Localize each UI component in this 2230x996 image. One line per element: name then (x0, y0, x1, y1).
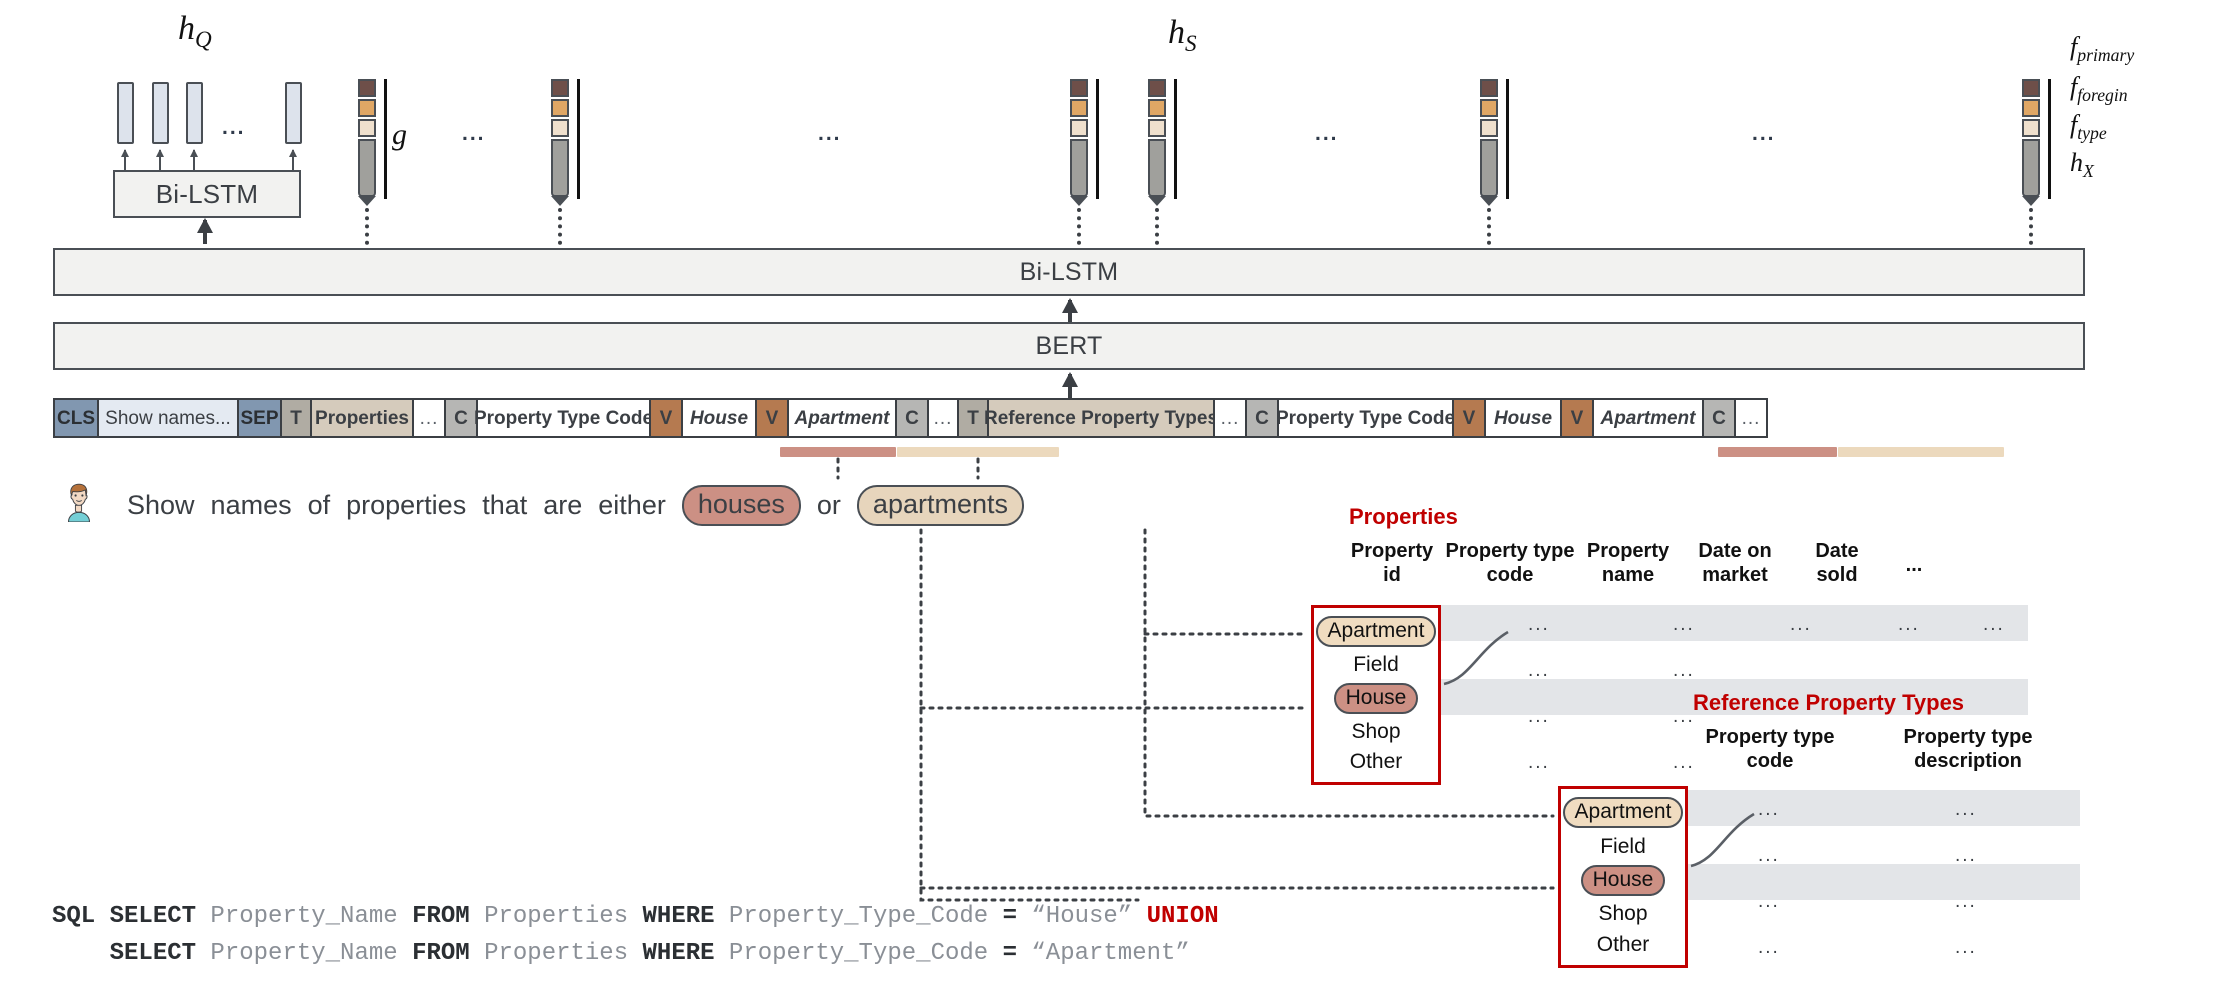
stack-tip (1070, 196, 1088, 206)
th-property-type-code: Property typecode (1444, 540, 1576, 587)
header-line: Property type (1444, 540, 1576, 564)
g-label: g (392, 118, 407, 152)
f-type-label: ftype (2070, 110, 2107, 144)
bert-input-arrow (1068, 374, 1072, 398)
stack-3-dotted-line (1077, 208, 1081, 253)
reference-cell: ... (1955, 799, 1977, 821)
bert-token-8: V (649, 398, 683, 438)
th-date-on-market: Date onmarket (1680, 540, 1790, 587)
column-feature-stack-2 (551, 79, 569, 197)
question-word-3: properties (346, 490, 466, 521)
bert-token-9: House (681, 398, 757, 438)
question-arrow-4 (292, 150, 294, 172)
reference-cell: ... (1955, 891, 1977, 913)
bert-token-5: ... (412, 398, 446, 438)
column-feature-stack-6 (2022, 79, 2040, 197)
f-foregin-cell (1148, 99, 1166, 117)
f-primary-label: fprimary (2070, 32, 2134, 66)
figure-canvas: hQ ... Bi-LSTM g ... ... hS (0, 0, 2230, 996)
f-primary-cell (551, 79, 569, 97)
sql-token: Properties (470, 940, 643, 967)
stack-2-dotted-line (558, 208, 562, 253)
sql-token: Property_Type_Code (715, 903, 1003, 930)
value-item-other[interactable]: Other (1350, 749, 1403, 774)
bert-token-10: V (755, 398, 789, 438)
f-primary-cell (1070, 79, 1088, 97)
apartment-highlight-bar-1 (897, 447, 1059, 457)
reference-cell: ... (1955, 845, 1977, 867)
f-type-cell (551, 119, 569, 137)
house-highlight-bar-2 (1718, 447, 1837, 457)
bert-token-7: Property Type Code (476, 398, 651, 438)
question-vector-3 (186, 82, 203, 144)
brace-2 (577, 79, 580, 199)
properties-cell: ... (1898, 614, 1920, 636)
stacks-ellipsis-1: ... (462, 122, 486, 146)
bert-token-3: T (280, 398, 312, 438)
sql-output: SQL SELECT Property_Name FROM Properties… (52, 898, 1219, 972)
value-item-apartment[interactable]: Apartment (1563, 797, 1684, 828)
reference-cell: ... (1758, 937, 1780, 959)
question-arrow-2 (159, 150, 161, 172)
sql-token: “House” (1017, 903, 1147, 930)
header-line: market (1680, 564, 1790, 588)
bert-token-11: Apartment (787, 398, 897, 438)
reference-cell: ... (1758, 799, 1780, 821)
value-item-shop[interactable]: Shop (1351, 719, 1400, 744)
question-word-1: names (211, 490, 292, 521)
stack-4-dotted-line (1155, 208, 1159, 253)
stack-6-dotted-line (2029, 208, 2033, 253)
bert-token-12: C (895, 398, 929, 438)
bert-token-17: C (1245, 398, 1279, 438)
question-word-4: that (482, 490, 527, 521)
value-list-properties: ApartmentFieldHouseShopOther (1311, 605, 1441, 785)
h-x-cell (2022, 139, 2040, 197)
question-vector-1 (117, 82, 134, 144)
f-foregin-cell (1480, 99, 1498, 117)
value-item-shop[interactable]: Shop (1598, 901, 1647, 926)
reference-cell: ... (1955, 937, 1977, 959)
sql-token: WHERE (643, 940, 715, 967)
f-foregin-cell (2022, 99, 2040, 117)
bert-token-21: V (1560, 398, 1594, 438)
f-foregin-cell (1070, 99, 1088, 117)
properties-cell: ... (1673, 706, 1695, 728)
stacks-ellipsis-4: ... (1752, 122, 1776, 146)
bert-token-15: Reference Property Types (987, 398, 1215, 438)
table-name-reference-property-types: Reference Property Types (1693, 690, 1964, 716)
bilstm-question-input-arrow (203, 220, 207, 244)
sql-token: SELECT (110, 903, 196, 930)
stacks-ellipsis-2: ... (818, 122, 842, 146)
h-x-cell (1070, 139, 1088, 197)
bert-input-token-strip: CLSShow names...SEPTProperties...CProper… (53, 398, 1768, 438)
stack-tip (2022, 196, 2040, 206)
f-foregin-cell (551, 99, 569, 117)
f-foregin-cell (358, 99, 376, 117)
f-primary-cell (1480, 79, 1498, 97)
natural-language-question: Shownamesofpropertiesthatareeitherhouses… (127, 483, 1040, 527)
apartment-highlight-bar-2 (1838, 447, 2004, 457)
value-item-apartment[interactable]: Apartment (1316, 616, 1437, 647)
stacks-ellipsis-3: ... (1315, 122, 1339, 146)
house-highlight-bar-1 (780, 447, 896, 457)
reference-row-band-2 (1680, 864, 2080, 900)
column-feature-stack-5 (1480, 79, 1498, 197)
sql-token: = (1003, 940, 1017, 967)
question-arrow-1 (124, 150, 126, 172)
properties-cell: ... (1673, 614, 1695, 636)
sql-token: Property_Type_Code (715, 940, 1003, 967)
question-vector-last (285, 82, 302, 144)
th-ref-property-type-code: Property typecode (1680, 726, 1860, 773)
bert-token-24: ... (1734, 398, 1768, 438)
sql-token: Properties (470, 903, 643, 930)
properties-cell: ... (1528, 660, 1550, 682)
h-x-cell (1480, 139, 1498, 197)
brace-4 (1174, 79, 1177, 199)
brace-3 (1096, 79, 1099, 199)
properties-cell: ... (1528, 614, 1550, 636)
bilstm-question-box: Bi-LSTM (113, 170, 301, 218)
sql-token: UNION (1147, 903, 1219, 930)
question-word-6: either (598, 490, 666, 521)
column-feature-stack-1 (358, 79, 376, 197)
question-pill-houses[interactable]: houses (682, 485, 801, 526)
stack-tip (1480, 196, 1498, 206)
question-word-or: or (817, 490, 841, 521)
stack-5-dotted-line (1487, 208, 1491, 253)
bert-token-2: SEP (237, 398, 282, 438)
question-arrow-3 (193, 150, 195, 172)
bilstm-main-input-arrow (1068, 300, 1072, 324)
sql-token: Property_Name (196, 940, 412, 967)
value-item-house[interactable]: House (1581, 865, 1666, 896)
stack-1-dotted-line (365, 208, 369, 253)
header-line: name (1576, 564, 1680, 588)
header-line: Property type (1860, 726, 2076, 750)
bert-token-13: ... (927, 398, 959, 438)
f-type-cell (1148, 119, 1166, 137)
bert-token-19: V (1452, 398, 1486, 438)
sql-prefix-label: SQL (52, 903, 110, 930)
brace-6 (2048, 79, 2051, 199)
f-type-cell (1070, 119, 1088, 137)
sql-token: FROM (412, 940, 470, 967)
sql-token: “Apartment” (1017, 940, 1190, 967)
header-line: Date on (1680, 540, 1790, 564)
column-feature-stack-3 (1070, 79, 1088, 197)
reference-table-header: Property typecode Property typedescripti… (1680, 726, 2080, 773)
reference-row-band-1 (1680, 790, 2080, 826)
th-property-id: Propertyid (1340, 540, 1444, 587)
stack-tip (1148, 196, 1166, 206)
header-line: ... (1884, 554, 1944, 578)
reference-cell: ... (1758, 845, 1780, 867)
h-x-cell (358, 139, 376, 197)
brace-5 (1506, 79, 1509, 199)
sql-token: = (1003, 903, 1017, 930)
bert-token-22: Apartment (1592, 398, 1704, 438)
question-vector-ellipsis: ... (222, 116, 246, 140)
stack-tip (358, 196, 376, 206)
sql-line: SQL SELECT Property_Name FROM Properties… (52, 898, 1219, 935)
table-name-properties: Properties (1349, 504, 1458, 530)
question-word-5: are (543, 490, 582, 521)
properties-cell: ... (1983, 614, 2005, 636)
properties-cell: ... (1528, 706, 1550, 728)
h-x-cell (1148, 139, 1166, 197)
h-x-cell (551, 139, 569, 197)
header-line: Date (1790, 540, 1884, 564)
bilstm-main-box: Bi-LSTM (53, 248, 2085, 296)
properties-table-header: Propertyid Property typecode Propertynam… (1340, 540, 2030, 587)
value-item-other[interactable]: Other (1597, 932, 1650, 957)
h-x-label: hX (2070, 148, 2094, 182)
h-q-label: hQ (178, 10, 212, 54)
th-property-name: Propertyname (1576, 540, 1680, 587)
th-date-sold: Datesold (1790, 540, 1884, 587)
header-line: id (1340, 564, 1444, 588)
stack-tip (551, 196, 569, 206)
sql-token: Property_Name (196, 903, 412, 930)
f-primary-cell (2022, 79, 2040, 97)
th-ref-property-type-description: Property typedescription (1860, 726, 2076, 773)
header-line: sold (1790, 564, 1884, 588)
f-primary-cell (1148, 79, 1166, 97)
h-s-label: hS (1168, 14, 1197, 58)
header-line: description (1860, 750, 2076, 774)
column-feature-stack-4 (1148, 79, 1166, 197)
bert-token-1: Show names... (97, 398, 239, 438)
th-more: ... (1884, 540, 1944, 587)
f-type-cell (2022, 119, 2040, 137)
question-vector-2 (152, 82, 169, 144)
sql-token: FROM (412, 903, 470, 930)
bert-token-4: Properties (310, 398, 414, 438)
link-houses-to-sql (921, 530, 1138, 900)
sql-token: SELECT (110, 940, 196, 967)
header-line: Property (1576, 540, 1680, 564)
question-word-0: Show (127, 490, 195, 521)
value-list-reference-property-types: ApartmentFieldHouseShopOther (1558, 786, 1688, 968)
header-line: Property type (1680, 726, 1860, 750)
properties-cell: ... (1790, 614, 1812, 636)
bert-token-0: CLS (53, 398, 99, 438)
sql-line: SELECT Property_Name FROM Properties WHE… (52, 935, 1219, 972)
bert-token-23: C (1702, 398, 1736, 438)
question-pill-apartments[interactable]: apartments (857, 485, 1024, 526)
bert-box: BERT (53, 322, 2085, 370)
f-primary-cell (358, 79, 376, 97)
brace-1 (384, 79, 387, 199)
header-line: Property (1340, 540, 1444, 564)
bert-token-20: House (1484, 398, 1562, 438)
header-line: code (1680, 750, 1860, 774)
f-type-cell (1480, 119, 1498, 137)
value-item-field[interactable]: Field (1600, 834, 1646, 859)
properties-cell: ... (1673, 660, 1695, 682)
sql-token: WHERE (643, 903, 715, 930)
bert-token-6: C (444, 398, 478, 438)
value-item-field[interactable]: Field (1353, 652, 1399, 677)
bert-token-16: ... (1213, 398, 1247, 438)
question-word-2: of (308, 490, 331, 521)
user-avatar-icon (62, 482, 96, 522)
properties-cell: ... (1528, 752, 1550, 774)
f-foregin-label: fforegin (2070, 72, 2128, 106)
header-line: code (1444, 564, 1576, 588)
value-item-house[interactable]: House (1334, 683, 1419, 714)
f-type-cell (358, 119, 376, 137)
sql-indent (52, 940, 110, 967)
bert-token-18: Property Type Code (1277, 398, 1454, 438)
reference-cell: ... (1758, 891, 1780, 913)
